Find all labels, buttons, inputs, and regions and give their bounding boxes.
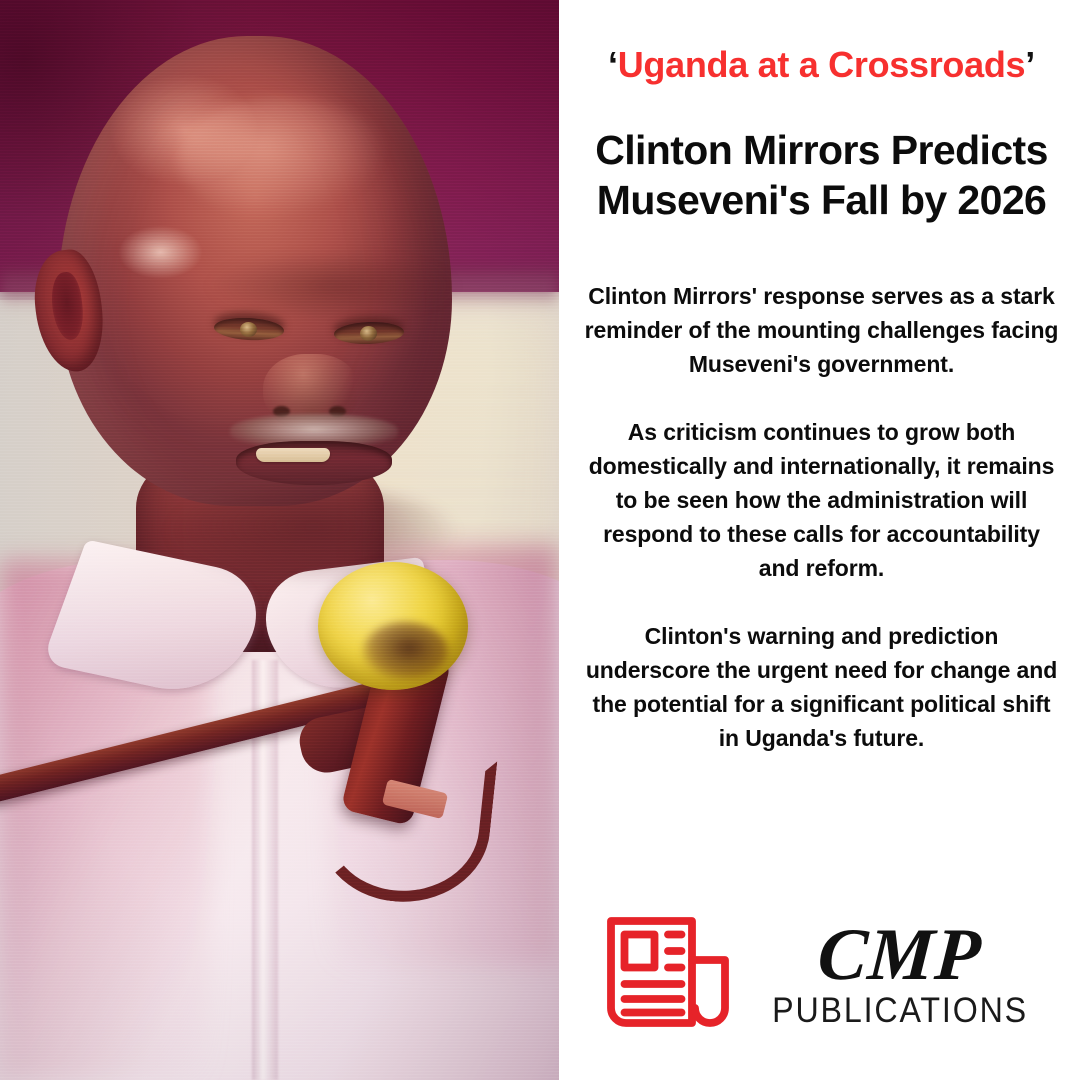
museveni-speaking-at-microphone-photo: [0, 0, 559, 1080]
brand-tagline: PUBLICATIONS: [772, 993, 1028, 1028]
photo-eye-left: [213, 316, 284, 342]
kicker-text: Uganda at a Crossroads: [618, 44, 1026, 85]
article-paragraph-1: Clinton Mirrors' response serves as a st…: [575, 279, 1068, 381]
news-graphic-card: ‘Uganda at a Crossroads’ Clinton Mirrors…: [0, 0, 1080, 1080]
photo-pupil-left: [240, 322, 258, 338]
quote-open-mark: ‘: [608, 44, 618, 85]
article-paragraph-2: As criticism continues to grow both dome…: [575, 415, 1068, 585]
article-paragraph-3: Clinton's warning and prediction undersc…: [575, 619, 1068, 755]
kicker-headline: ‘Uganda at a Crossroads’: [575, 44, 1068, 86]
photo-pupil-right: [360, 326, 378, 342]
quote-close-mark: ’: [1025, 44, 1035, 85]
photo-mouth: [236, 441, 392, 485]
photo-eye-right: [334, 321, 405, 345]
article-body: Clinton Mirrors' response serves as a st…: [575, 279, 1068, 755]
article-text-pane: ‘Uganda at a Crossroads’ Clinton Mirrors…: [559, 0, 1080, 1080]
photo-scalp-highlight: [178, 98, 388, 218]
brand-wordmark: CMP PUBLICATIONS: [761, 921, 1039, 1028]
page-title: Clinton Mirrors Predicts Museveni's Fall…: [575, 126, 1068, 224]
brand-logo: CMP PUBLICATIONS: [575, 897, 1068, 1052]
newspaper-icon: [593, 897, 743, 1052]
photo-mic-windscreen: [318, 562, 468, 690]
photo-brow-shadow: [208, 251, 458, 321]
brand-name: CMP: [816, 921, 984, 989]
photo-teeth: [256, 448, 330, 462]
